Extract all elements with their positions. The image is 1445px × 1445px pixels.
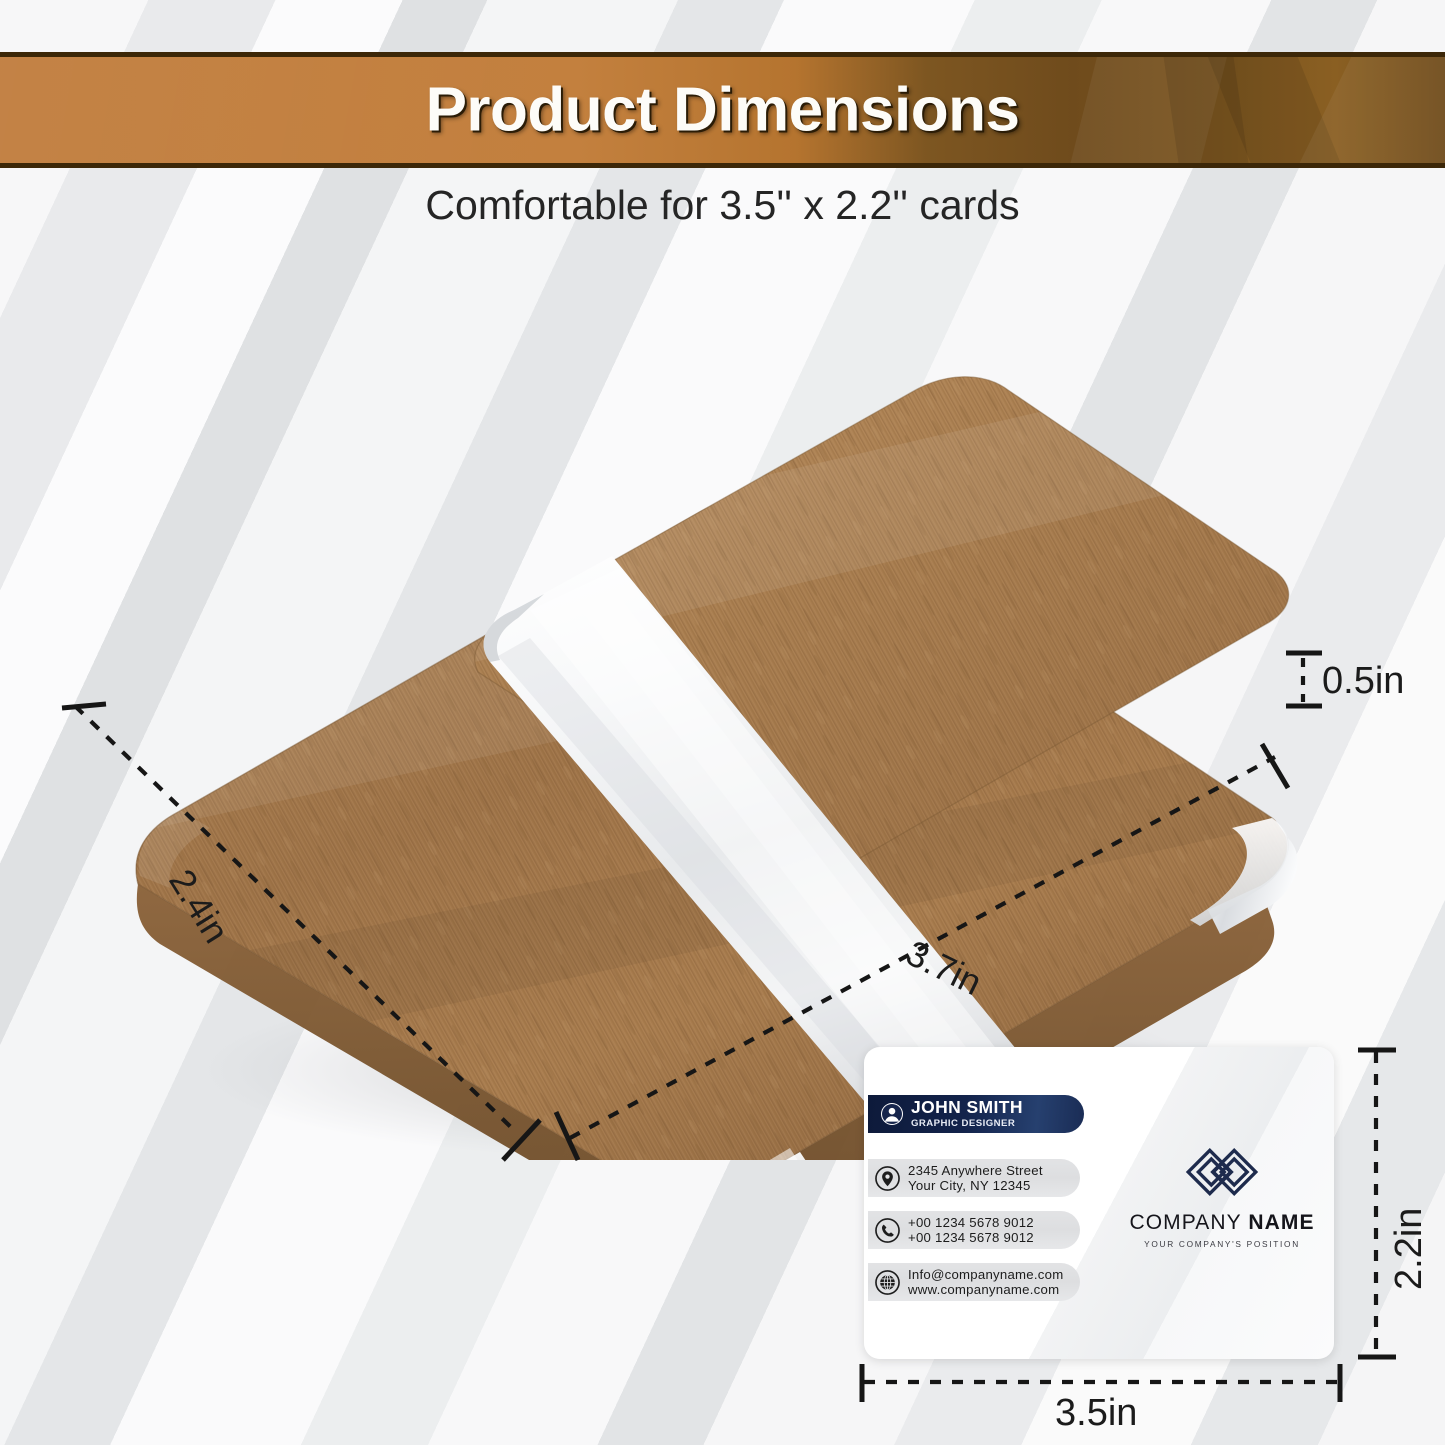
location-pin-icon: [875, 1166, 900, 1191]
header-banner: Product Dimensions: [0, 52, 1445, 168]
card-contact-phone: +00 1234 5678 9012 +00 1234 5678 9012: [868, 1211, 1080, 1249]
card-phone-lines: +00 1234 5678 9012 +00 1234 5678 9012: [908, 1215, 1034, 1245]
dimension-label-card-height: 2.2in: [1388, 1208, 1431, 1290]
dimension-label-height: 0.5in: [1322, 660, 1404, 703]
card-company-tagline: YOUR COMPANY'S POSITION: [1116, 1239, 1328, 1249]
card-web-lines: Info@companyname.com www.companyname.com: [908, 1267, 1063, 1297]
page-title: Product Dimensions: [0, 75, 1445, 146]
business-card-sample: JOHN SMITH GRAPHIC DESIGNER 2345 Anywher…: [864, 1047, 1334, 1359]
address-line-1: 2345 Anywhere Street: [908, 1163, 1043, 1178]
card-person-name: JOHN SMITH: [911, 1099, 1023, 1117]
page-subtitle: Comfortable for 3.5'' x 2.2'' cards: [0, 182, 1445, 229]
infographic-canvas: Product Dimensions Comfortable for 3.5''…: [0, 0, 1445, 1445]
company-name-part2: NAME: [1248, 1211, 1314, 1234]
website-line: www.companyname.com: [908, 1282, 1063, 1297]
card-address-lines: 2345 Anywhere Street Your City, NY 12345: [908, 1163, 1043, 1193]
card-contact-web: Info@companyname.com www.companyname.com: [868, 1263, 1080, 1301]
address-line-2: Your City, NY 12345: [908, 1178, 1043, 1193]
card-name-badge: JOHN SMITH GRAPHIC DESIGNER: [868, 1095, 1084, 1133]
product-image-wooden-card-holder: [100, 280, 1300, 1160]
card-name-text-group: JOHN SMITH GRAPHIC DESIGNER: [911, 1099, 1023, 1128]
card-logo-block: COMPANY NAME YOUR COMPANY'S POSITION: [1116, 1143, 1328, 1249]
interlocking-diamonds-logo-icon: [1183, 1143, 1261, 1201]
phone-line-2: +00 1234 5678 9012: [908, 1230, 1034, 1245]
company-name-part1: COMPANY: [1129, 1211, 1248, 1234]
card-company-name: COMPANY NAME: [1116, 1211, 1328, 1235]
card-person-role: GRAPHIC DESIGNER: [911, 1119, 1023, 1129]
phone-icon: [875, 1218, 900, 1243]
dimension-label-card-width: 3.5in: [1055, 1392, 1137, 1435]
phone-line-1: +00 1234 5678 9012: [908, 1215, 1034, 1230]
email-line: Info@companyname.com: [908, 1267, 1063, 1282]
avatar-icon: [880, 1102, 904, 1126]
globe-icon: [875, 1270, 900, 1295]
card-contact-address: 2345 Anywhere Street Your City, NY 12345: [868, 1159, 1080, 1197]
